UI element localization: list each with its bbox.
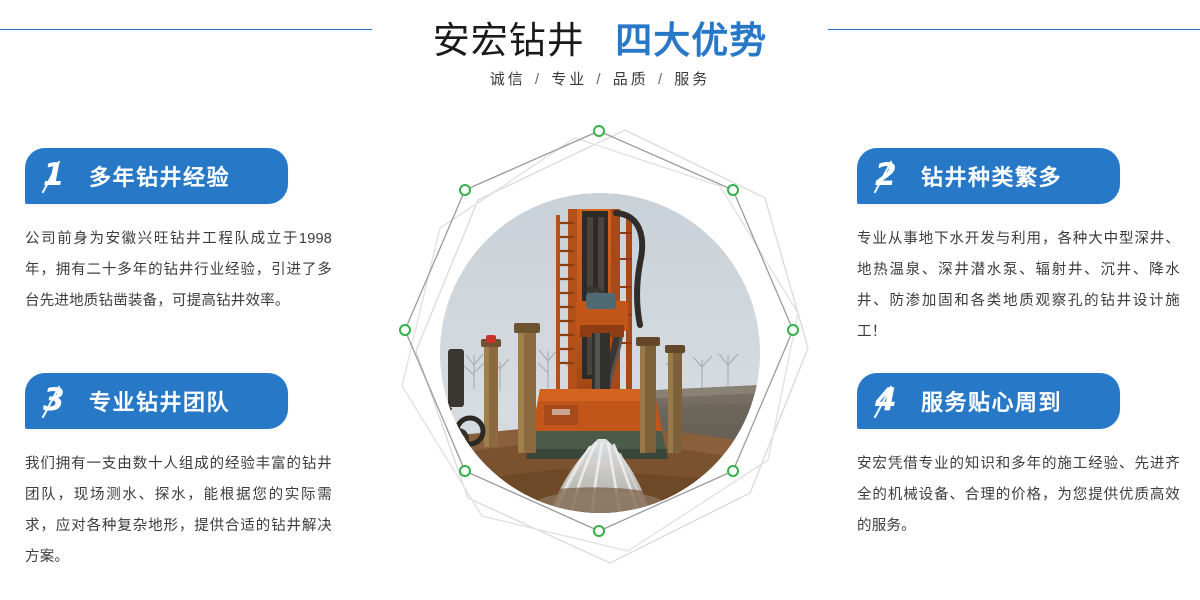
- page-title-accent: 四大优势: [615, 20, 767, 61]
- feature-badge-1[interactable]: 1 多年钻井经验: [25, 148, 288, 204]
- feature-number-1: 1: [43, 155, 65, 195]
- page-title: 安宏钻井 四大优势: [0, 10, 1200, 64]
- feature-body-4: 安宏凭借专业的知识和多年的施工经验、先进齐全的机械设备、合理的价格，为您提供优质…: [840, 449, 1188, 542]
- feature-body-2: 专业从事地下水开发与利用，各种大中型深井、地热温泉、深井潜水泵、辐射井、沉井、降…: [840, 224, 1188, 348]
- feature-badge-2[interactable]: 2 钻井种类繁多: [857, 148, 1120, 204]
- feature-card-4: 4 服务贴心周到 安宏凭借专业的知识和多年的施工经验、先进齐全的机械设备、合理的…: [840, 373, 1190, 542]
- feature-number-icon-1: 1: [43, 156, 83, 196]
- feature-title-1: 多年钻井经验: [89, 160, 230, 192]
- page-subtitle: 诚信 / 专业 / 品质 / 服务: [0, 68, 1200, 89]
- page-title-main: 安宏钻井: [433, 20, 585, 61]
- drilling-rig-photo: [440, 193, 760, 513]
- feature-number-4: 4: [875, 380, 897, 420]
- vertex-marker-icon-left: [400, 325, 410, 335]
- feature-number-3: 3: [43, 380, 65, 420]
- feature-number-icon-2: 2: [875, 156, 915, 196]
- feature-title-3: 专业钻井团队: [89, 385, 230, 417]
- feature-number-icon-3: 3: [43, 381, 83, 421]
- vertex-marker-icon-top-left: [460, 185, 470, 195]
- subtitle-item-0: 诚信: [490, 71, 526, 88]
- feature-badge-4[interactable]: 4 服务贴心周到: [857, 373, 1120, 429]
- subtitle-separator-0: /: [535, 71, 542, 88]
- advantages-banner: 安宏钻井 四大优势 诚信 / 专业 / 品质 / 服务 1 多年钻井经验 公司前…: [0, 0, 1200, 600]
- feature-body-3: 我们拥有一支由数十人组成的经验丰富的钻井团队，现场测水、探水，能根据您的实际需求…: [0, 449, 340, 573]
- feature-title-2: 钻井种类繁多: [921, 160, 1062, 192]
- subtitle-separator-1: /: [596, 71, 603, 88]
- subtitle-separator-2: /: [658, 71, 665, 88]
- subtitle-item-3: 服务: [674, 71, 710, 88]
- feature-number-2: 2: [875, 155, 897, 195]
- vertex-marker-icon-top: [594, 126, 604, 136]
- center-artwork: [370, 108, 830, 600]
- drilling-rig-illustration: [440, 193, 760, 513]
- subtitle-item-2: 品质: [613, 71, 649, 88]
- feature-card-3: 3 专业钻井团队 我们拥有一支由数十人组成的经验丰富的钻井团队，现场测水、探水，…: [0, 373, 350, 573]
- feature-badge-3[interactable]: 3 专业钻井团队: [25, 373, 288, 429]
- page-header: 安宏钻井 四大优势 诚信 / 专业 / 品质 / 服务: [0, 0, 1200, 110]
- feature-title-4: 服务贴心周到: [921, 385, 1062, 417]
- vertex-marker-icon-bottom-right: [728, 466, 738, 476]
- subtitle-item-1: 专业: [551, 71, 587, 88]
- vertex-marker-icon-right: [788, 325, 798, 335]
- vertex-marker-icon-bottom-left: [460, 466, 470, 476]
- feature-number-icon-4: 4: [875, 381, 915, 421]
- vertex-marker-icon-top-right: [728, 185, 738, 195]
- feature-card-2: 2 钻井种类繁多 专业从事地下水开发与利用，各种大中型深井、地热温泉、深井潜水泵…: [840, 148, 1190, 348]
- feature-body-1: 公司前身为安徽兴旺钻井工程队成立于1998年，拥有二十多年的钻井行业经验，引进了…: [0, 224, 340, 317]
- feature-card-1: 1 多年钻井经验 公司前身为安徽兴旺钻井工程队成立于1998年，拥有二十多年的钻…: [0, 148, 350, 317]
- vertex-marker-icon-bottom: [594, 526, 604, 536]
